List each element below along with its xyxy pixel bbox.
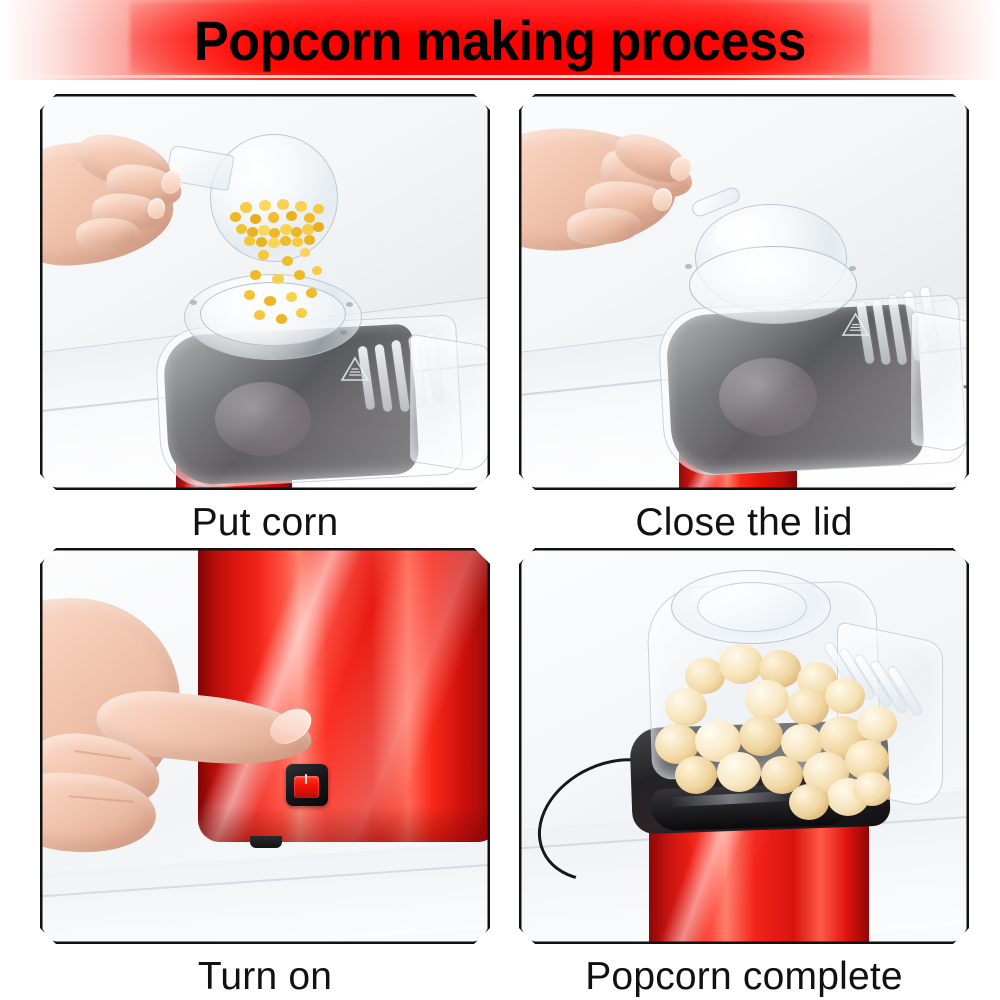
power-switch-indicator-line [305,774,307,784]
lid-highlight [715,218,773,252]
falling-corn-kernels [236,244,336,332]
step-3-caption: Turn on [40,954,490,1000]
step-2-image-frame [519,94,969,490]
step-2-caption: Close the lid [519,500,969,546]
steps-grid: Put corn [0,86,1000,1000]
page-title: Popcorn making process [35,0,965,80]
popcorn-process-infographic: Popcorn making process [0,0,1000,1000]
header-banner: Popcorn making process [0,0,1000,80]
popcorn-pile [641,632,901,822]
step-3-image-frame [40,548,490,944]
step-1-scene [40,94,490,490]
cover-right-wing [410,334,490,475]
step-1-caption: Put corn [40,500,490,546]
step-4-scene [519,548,969,944]
lid-dome-rim [689,246,857,324]
lid-vent-hole [346,302,353,307]
machine-foot [250,836,282,848]
machine-body-base-shadow [200,806,490,842]
step-4-image-frame [519,548,969,944]
lid-top-inner-ring [697,582,807,632]
step-card-3: Turn on [40,548,490,1000]
step-card-1: Put corn [40,94,490,546]
machine-body-gloss [198,548,490,842]
step-3-scene [40,548,490,944]
step-2-scene [519,94,969,490]
step-4-caption: Popcorn complete [519,954,969,1000]
lid-vent-hole [190,300,197,305]
step-1-image-frame [40,94,490,490]
step-card-4: Popcorn complete [519,548,969,1000]
corn-kernel-cluster [228,194,334,248]
step-card-2: Close the lid [519,94,969,546]
cover-right-wing [911,311,969,456]
lid-vent-hole [340,330,347,335]
lid-vent-hole [849,266,856,271]
lid-vent-hole [685,264,692,269]
